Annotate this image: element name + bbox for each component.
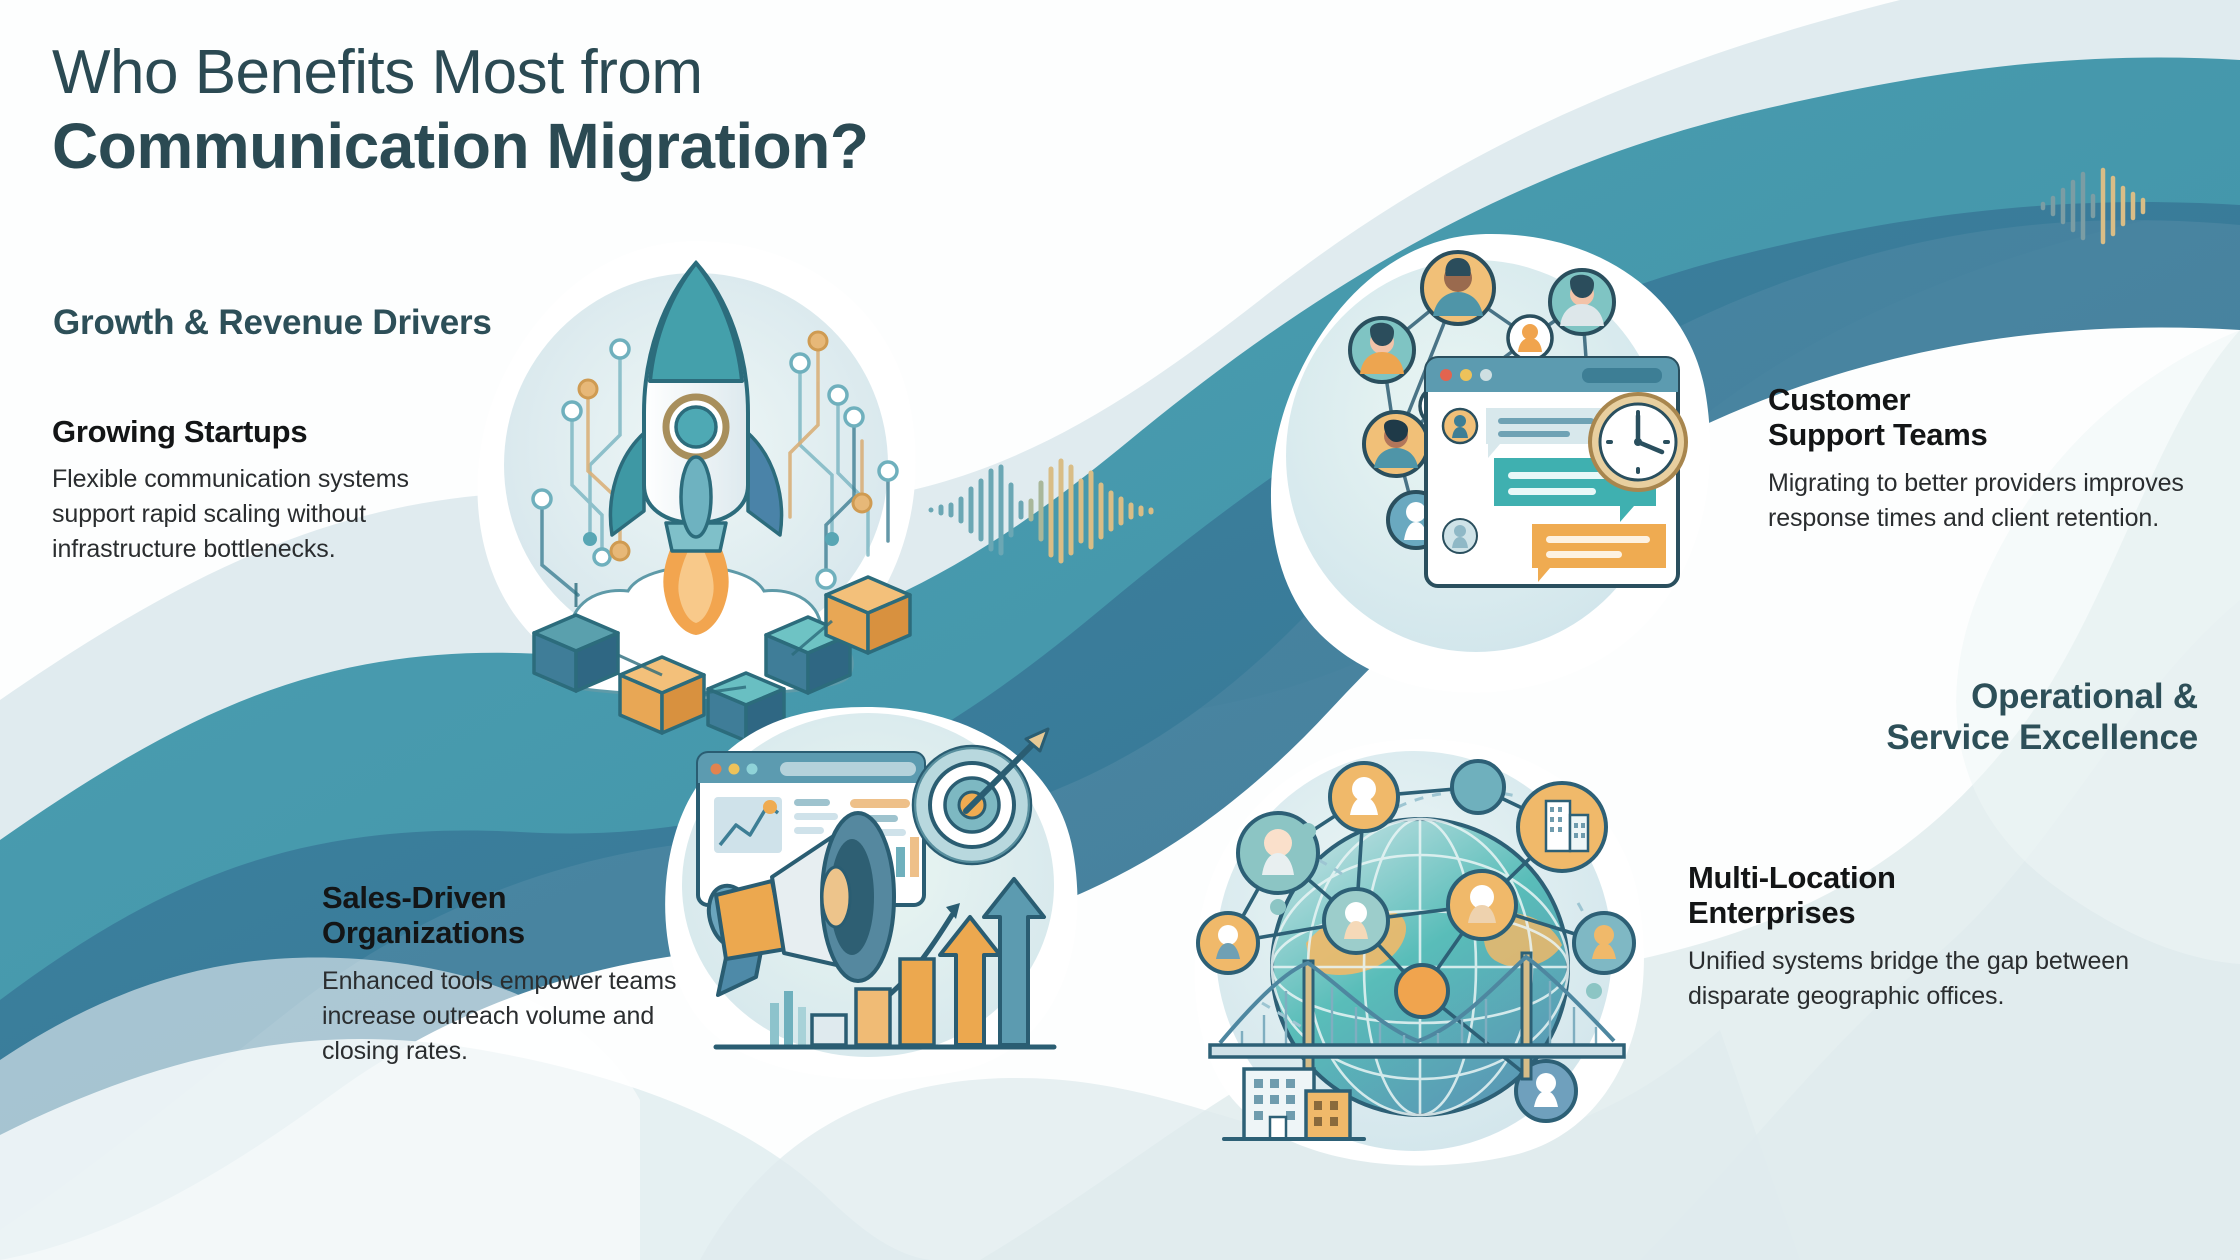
card-multi-location-heading-line-2: Enterprises bbox=[1688, 895, 1855, 930]
card-multi-location-heading: Multi-Location Enterprises bbox=[1688, 860, 2158, 931]
card-customer-support-heading-line-2: Support Teams bbox=[1768, 417, 1987, 452]
team-network-chat-illustration bbox=[1270, 230, 1712, 700]
page-title-line-2: Communication Migration? bbox=[52, 111, 1252, 183]
card-growing-startups-body: Flexible communication systems support r… bbox=[52, 462, 482, 567]
card-sales-driven-heading-line-2: Organizations bbox=[322, 915, 525, 950]
card-sales-driven-heading: Sales-Driven Organizations bbox=[322, 880, 712, 951]
card-multi-location-body: Unified systems bridge the gap between d… bbox=[1688, 944, 2158, 1014]
background-waves bbox=[0, 0, 2240, 1260]
megaphone-growth-chart-illustration bbox=[660, 705, 1080, 1075]
card-sales-driven-organizations: Sales-Driven Organizations Enhanced tool… bbox=[322, 880, 712, 1069]
card-customer-support-heading-line-1: Customer bbox=[1768, 382, 1910, 417]
waveform-top-right-icon bbox=[2035, 160, 2160, 250]
card-customer-support-heading: Customer Support Teams bbox=[1768, 382, 2198, 453]
card-multi-location-enterprises: Multi-Location Enterprises Unified syste… bbox=[1688, 860, 2158, 1014]
page-title: Who Benefits Most from Communication Mig… bbox=[52, 38, 1252, 183]
infographic-canvas: Who Benefits Most from Communication Mig… bbox=[0, 0, 2240, 1260]
section-heading-operational-service: Operational & Service Excellence bbox=[1638, 676, 2198, 759]
card-sales-driven-heading-line-1: Sales-Driven bbox=[322, 880, 506, 915]
card-growing-startups-heading: Growing Startups bbox=[52, 414, 482, 449]
globe-network-bridge-illustration bbox=[1190, 735, 1650, 1165]
page-title-line-1: Who Benefits Most from bbox=[52, 38, 1252, 107]
card-growing-startups: Growing Startups Flexible communication … bbox=[52, 414, 482, 567]
waveform-middle-icon bbox=[925, 455, 1175, 565]
card-multi-location-heading-line-1: Multi-Location bbox=[1688, 860, 1896, 895]
card-sales-driven-body: Enhanced tools empower teams to increase… bbox=[322, 964, 712, 1069]
card-customer-support-body: Migrating to better providers improves r… bbox=[1768, 466, 2198, 536]
section-heading-operational-line-1: Operational & bbox=[1638, 676, 2198, 717]
section-heading-operational-line-2: Service Excellence bbox=[1638, 717, 2198, 758]
card-customer-support-teams: Customer Support Teams Migrating to bett… bbox=[1768, 382, 2198, 536]
rocket-launch-illustration bbox=[470, 235, 922, 705]
section-heading-growth-revenue: Growth & Revenue Drivers bbox=[53, 302, 492, 343]
